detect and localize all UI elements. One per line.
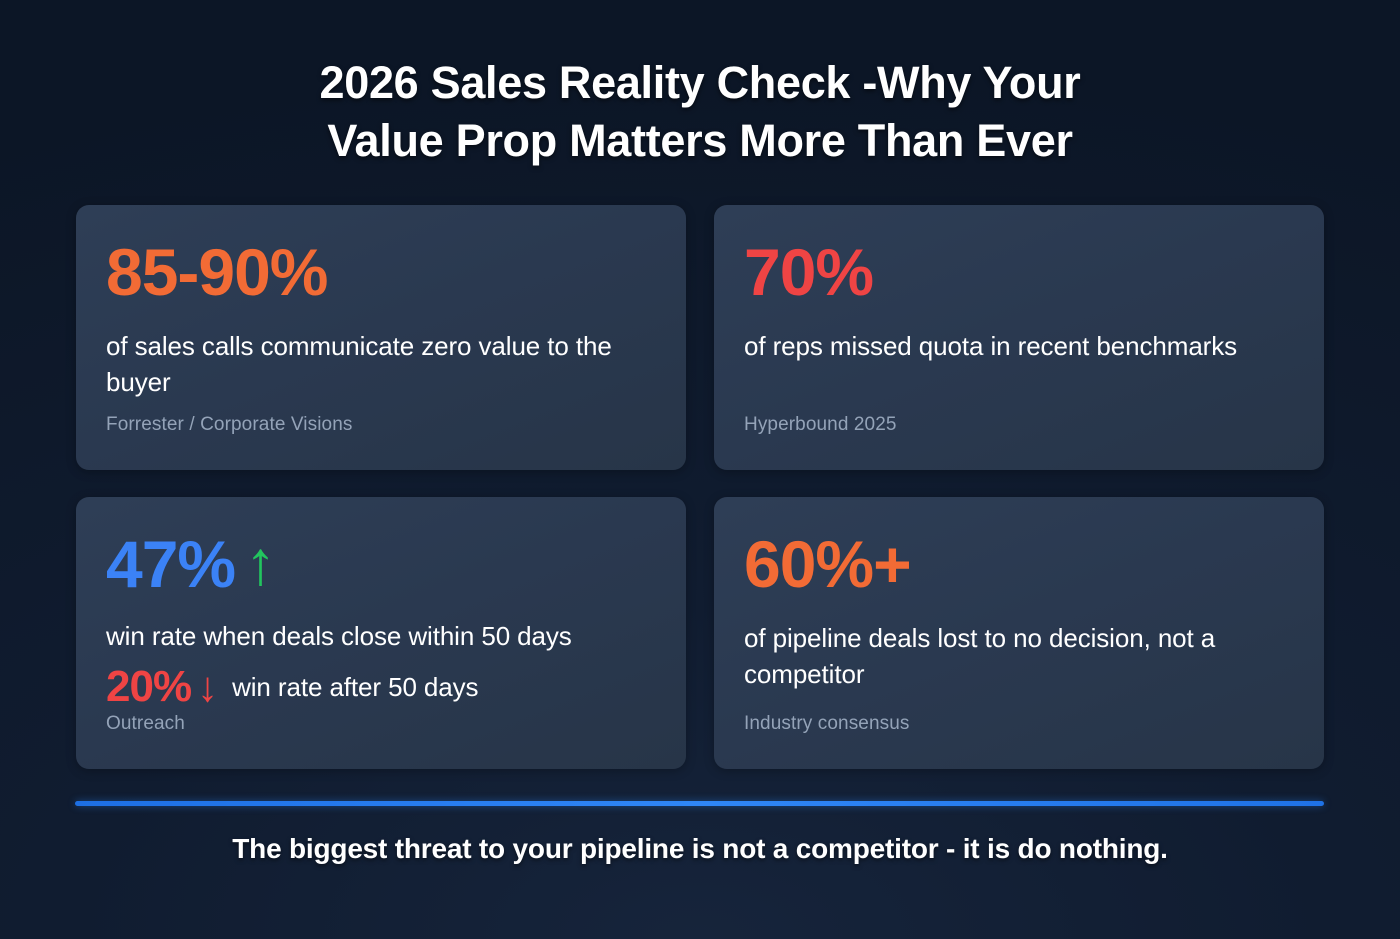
stat-secondary-row: 20% ↓ win rate after 50 days [106,665,656,709]
stat-description: of sales calls communicate zero value to… [106,328,656,400]
stat-card-sales-calls: 85-90% of sales calls communicate zero v… [76,205,686,470]
stat-figure-secondary: 20% [106,665,191,709]
stat-card-missed-quota: 70% of reps missed quota in recent bench… [714,205,1324,470]
stat-card-grid: 85-90% of sales calls communicate zero v… [76,205,1324,769]
footer-divider [75,801,1324,806]
stat-description: win rate when deals close within 50 days [106,619,656,653]
stat-figure: 60%+ [744,531,1294,597]
stat-figure-value: 47% [106,531,235,597]
stat-description: of reps missed quota in recent benchmark… [744,328,1294,364]
stat-figure-primary: 47% ↑ [106,531,656,597]
stat-source: Industry consensus [744,713,910,735]
stat-figure: 85-90% [106,239,656,305]
arrow-down-icon: ↓ [197,666,218,708]
stat-source: Hyperbound 2025 [744,414,897,436]
stat-source: Outreach [106,713,185,735]
infographic-page: 2026 Sales Reality Check -Why Your Value… [0,0,1400,939]
stat-source: Forrester / Corporate Visions [106,414,352,436]
page-title: 2026 Sales Reality Check -Why Your Value… [0,54,1400,170]
stat-description: of pipeline deals lost to no decision, n… [744,620,1294,692]
stat-card-no-decision: 60%+ of pipeline deals lost to no decisi… [714,497,1324,769]
footer-takeaway: The biggest threat to your pipeline is n… [0,833,1400,865]
stat-card-win-rate: 47% ↑ win rate when deals close within 5… [76,497,686,769]
stat-secondary-description: win rate after 50 days [232,672,478,703]
arrow-up-icon: ↑ [245,533,275,595]
stat-figure: 70% [744,239,1294,305]
